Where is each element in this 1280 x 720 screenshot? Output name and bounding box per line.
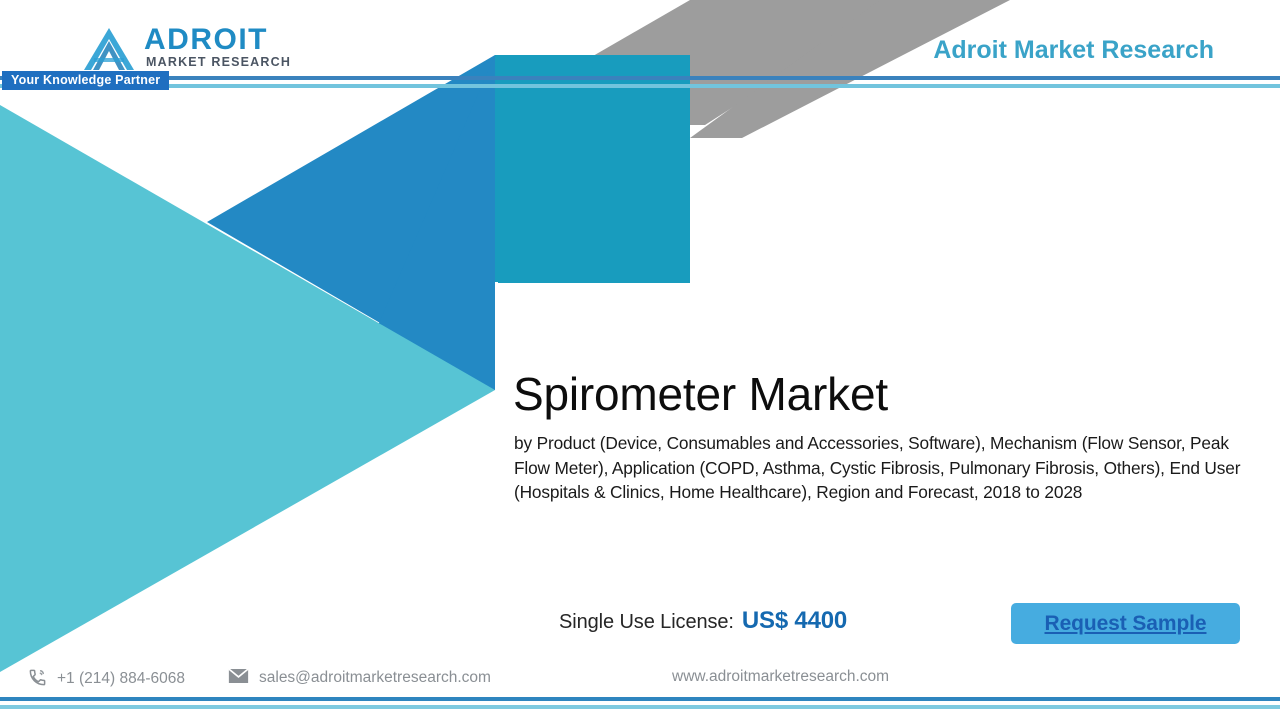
footer-email[interactable]: sales@adroitmarketresearch.com: [228, 668, 491, 688]
report-cover-page: ADROIT MARKET RESEARCH Your Knowledge Pa…: [0, 0, 1280, 720]
license-label: Single Use License:: [559, 611, 734, 634]
footer-email-text: sales@adroitmarketresearch.com: [259, 669, 491, 687]
license-price: US$ 4400: [742, 607, 847, 635]
cyan-wedge: [495, 55, 690, 283]
logo-wordmark: ADROIT: [144, 24, 268, 56]
logo-subtitle: MARKET RESEARCH: [146, 55, 291, 69]
footer-rule-light: [0, 705, 1280, 709]
pricing-row: Single Use License: US$ 4400: [559, 607, 847, 635]
footer-website-text: www.adroitmarketresearch.com: [672, 668, 889, 686]
adroit-a-mark-icon: [80, 26, 138, 72]
footer-phone[interactable]: +1 (214) 884-6068: [28, 668, 185, 691]
footer-rule-dark: [0, 697, 1280, 701]
request-sample-label: Request Sample: [1045, 612, 1207, 636]
brand-name-header: Adroit Market Research: [933, 36, 1214, 65]
footer-website[interactable]: www.adroitmarketresearch.com: [672, 668, 889, 686]
footer-phone-text: +1 (214) 884-6068: [57, 670, 185, 688]
report-title: Spirometer Market: [513, 365, 888, 423]
request-sample-button[interactable]: Request Sample: [1011, 603, 1240, 644]
footer: +1 (214) 884-6068 sales@adroitmarketrese…: [0, 660, 1280, 700]
report-subtitle: by Product (Device, Consumables and Acce…: [514, 431, 1244, 505]
logo-tagline-badge: Your Knowledge Partner: [2, 71, 169, 90]
envelope-icon: [228, 668, 249, 688]
phone-icon: [28, 668, 47, 691]
